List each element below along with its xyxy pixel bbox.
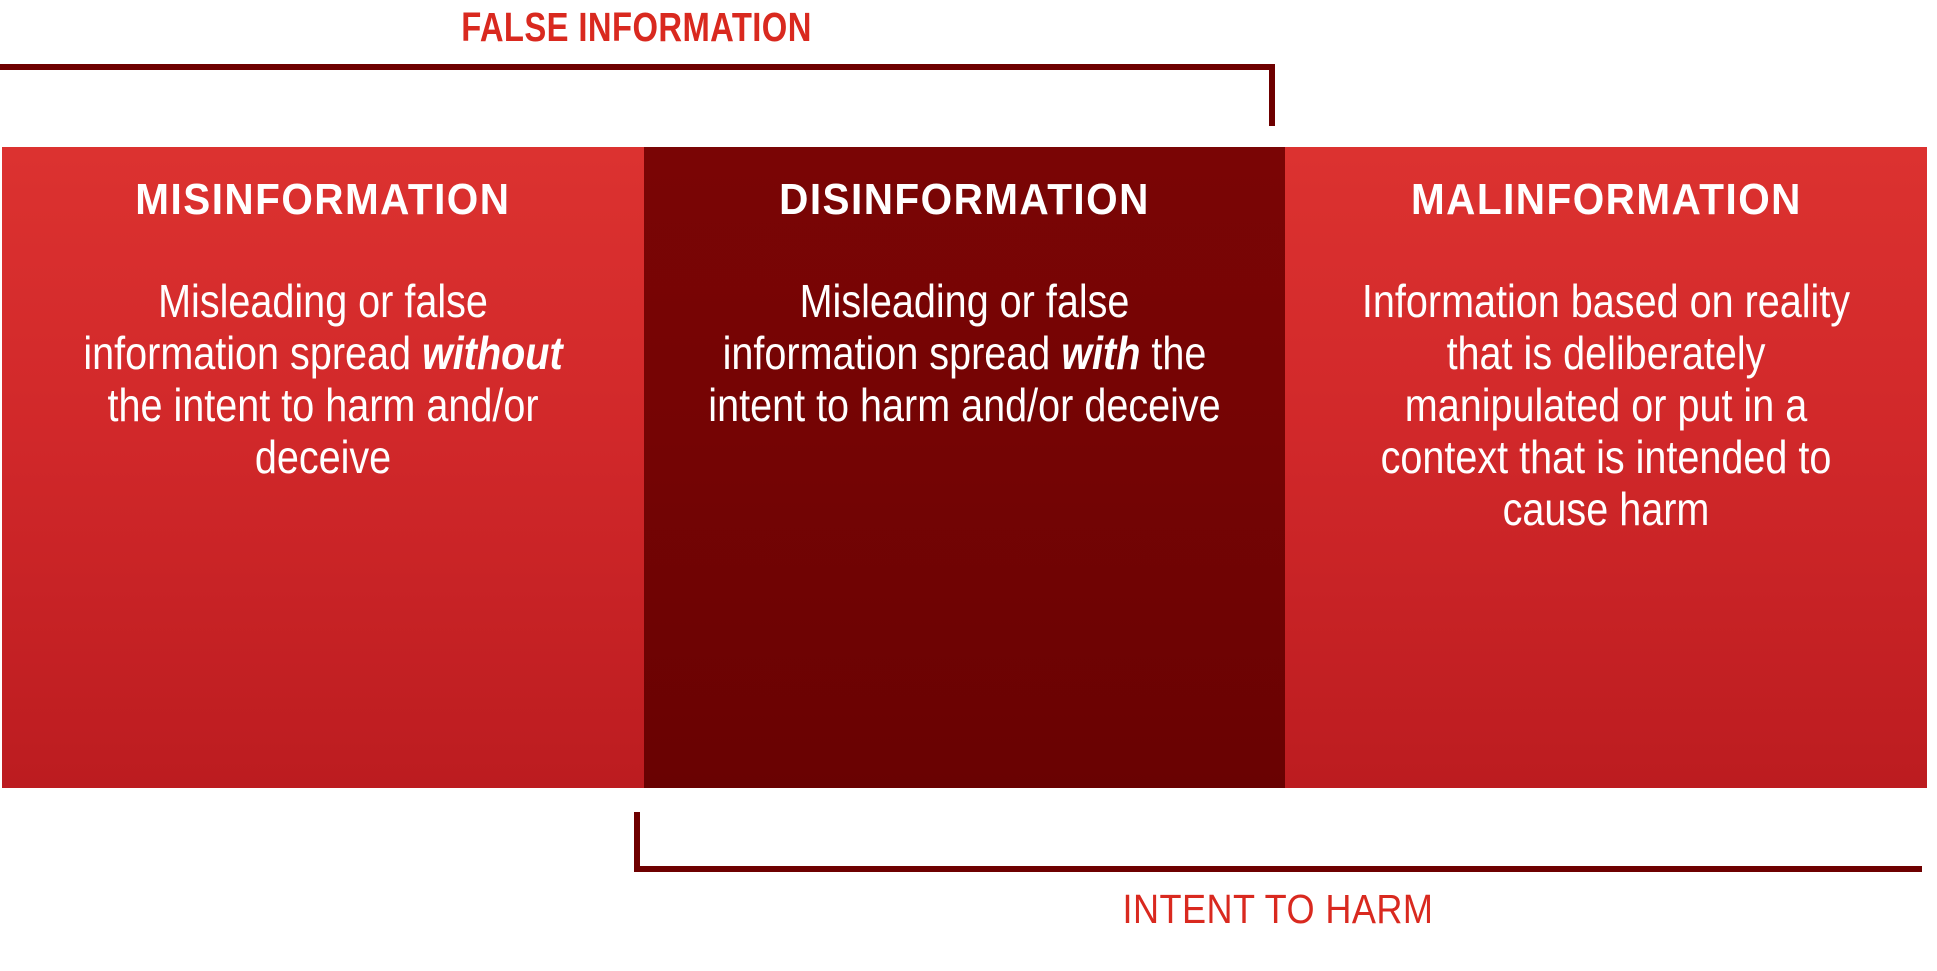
top-bracket-label: FALSE INFORMATION — [127, 2, 1145, 52]
column-body-misinformation: Misleading or false information spread w… — [59, 275, 587, 483]
top-bracket-line — [0, 64, 1275, 126]
column-heading-disinformation: DISINFORMATION — [779, 173, 1150, 227]
body-emphasis-disinformation: with — [1061, 327, 1140, 379]
column-heading-misinformation: MISINFORMATION — [135, 173, 510, 227]
column-heading-malinformation: MALINFORMATION — [1411, 173, 1802, 227]
column-body-disinformation: Misleading or false information spread w… — [701, 275, 1228, 431]
body-text-before-malinformation: Information based on reality that is del… — [1362, 275, 1850, 535]
column-misinformation: MISINFORMATION Misleading or false infor… — [2, 147, 644, 788]
category-panel: MISINFORMATION Misleading or false infor… — [2, 147, 1927, 788]
bottom-bracket-label: INTENT TO HARM — [711, 884, 1844, 934]
column-malinformation: MALINFORMATION Information based on real… — [1285, 147, 1927, 788]
diagram-canvas: FALSE INFORMATION MISINFORMATION Mislead… — [0, 0, 1937, 971]
column-disinformation: DISINFORMATION Misleading or false infor… — [644, 147, 1285, 788]
column-body-malinformation: Information based on reality that is del… — [1342, 275, 1870, 535]
body-emphasis-misinformation: without — [422, 327, 563, 379]
body-text-after-misinformation: the intent to harm and/or deceive — [107, 379, 538, 483]
bottom-bracket-line — [634, 812, 1922, 872]
